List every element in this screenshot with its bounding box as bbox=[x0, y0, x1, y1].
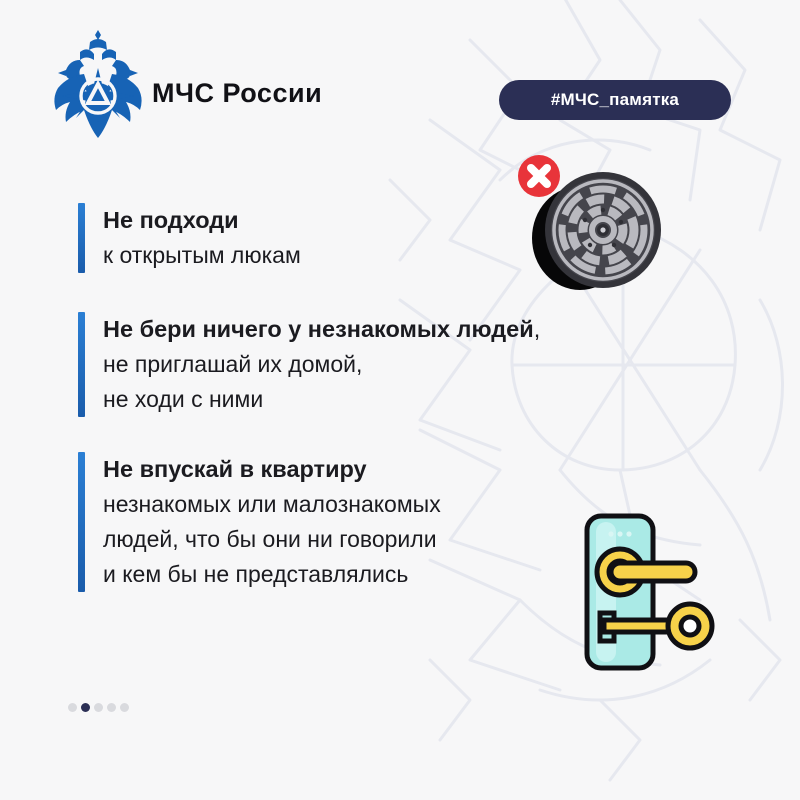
tip-text: Не бери ничего у незнакомых людей, не пр… bbox=[85, 312, 540, 417]
tip-heading-tail: , bbox=[534, 316, 541, 342]
tip-line: к открытым люкам bbox=[103, 238, 301, 273]
tip-line: не ходи с ними bbox=[103, 382, 540, 417]
pagination-dot-active[interactable] bbox=[81, 703, 90, 712]
tip-heading: Не бери ничего у незнакомых людей, bbox=[103, 312, 540, 347]
tip-item-1: Не подходи к открытым люкам bbox=[78, 203, 301, 273]
hashtag-label: #МЧС_памятка bbox=[551, 90, 679, 110]
brand-title: МЧС России bbox=[152, 78, 322, 109]
tip-line: и кем бы не представлялись bbox=[103, 557, 441, 592]
tip-heading: Не впускай в квартиру bbox=[103, 452, 441, 487]
pagination-dot[interactable] bbox=[68, 703, 77, 712]
tip-item-3: Не впускай в квартиру незнакомых или мал… bbox=[78, 452, 441, 592]
tip-accent-bar bbox=[78, 452, 85, 592]
prohibition-cross-badge bbox=[518, 155, 560, 197]
hashtag-badge[interactable]: #МЧС_памятка bbox=[499, 80, 731, 120]
open-manhole-illustration bbox=[508, 152, 678, 302]
infographic-card: МЧС России #МЧС_памятка bbox=[0, 0, 800, 800]
pagination-dot[interactable] bbox=[107, 703, 116, 712]
pagination-dot[interactable] bbox=[120, 703, 129, 712]
tip-line: не приглашай их домой, bbox=[103, 347, 540, 382]
tip-item-2: Не бери ничего у незнакомых людей, не пр… bbox=[78, 312, 540, 417]
door-handle-with-key-illustration bbox=[570, 508, 730, 678]
tip-accent-bar bbox=[78, 203, 85, 273]
emercom-eagle-emblem-icon bbox=[50, 30, 146, 138]
tip-line: незнакомых или малознакомых bbox=[103, 487, 441, 522]
tip-line: людей, что бы они ни говорили bbox=[103, 522, 441, 557]
tip-accent-bar bbox=[78, 312, 85, 417]
tip-heading: Не подходи bbox=[103, 203, 301, 238]
tip-text: Не впускай в квартиру незнакомых или мал… bbox=[85, 452, 441, 592]
tip-heading-text: Не бери ничего у незнакомых людей bbox=[103, 316, 534, 342]
header: МЧС России #МЧС_памятка bbox=[0, 0, 800, 150]
pagination-dots[interactable] bbox=[68, 703, 129, 712]
pagination-dot[interactable] bbox=[94, 703, 103, 712]
tip-text: Не подходи к открытым люкам bbox=[85, 203, 301, 273]
